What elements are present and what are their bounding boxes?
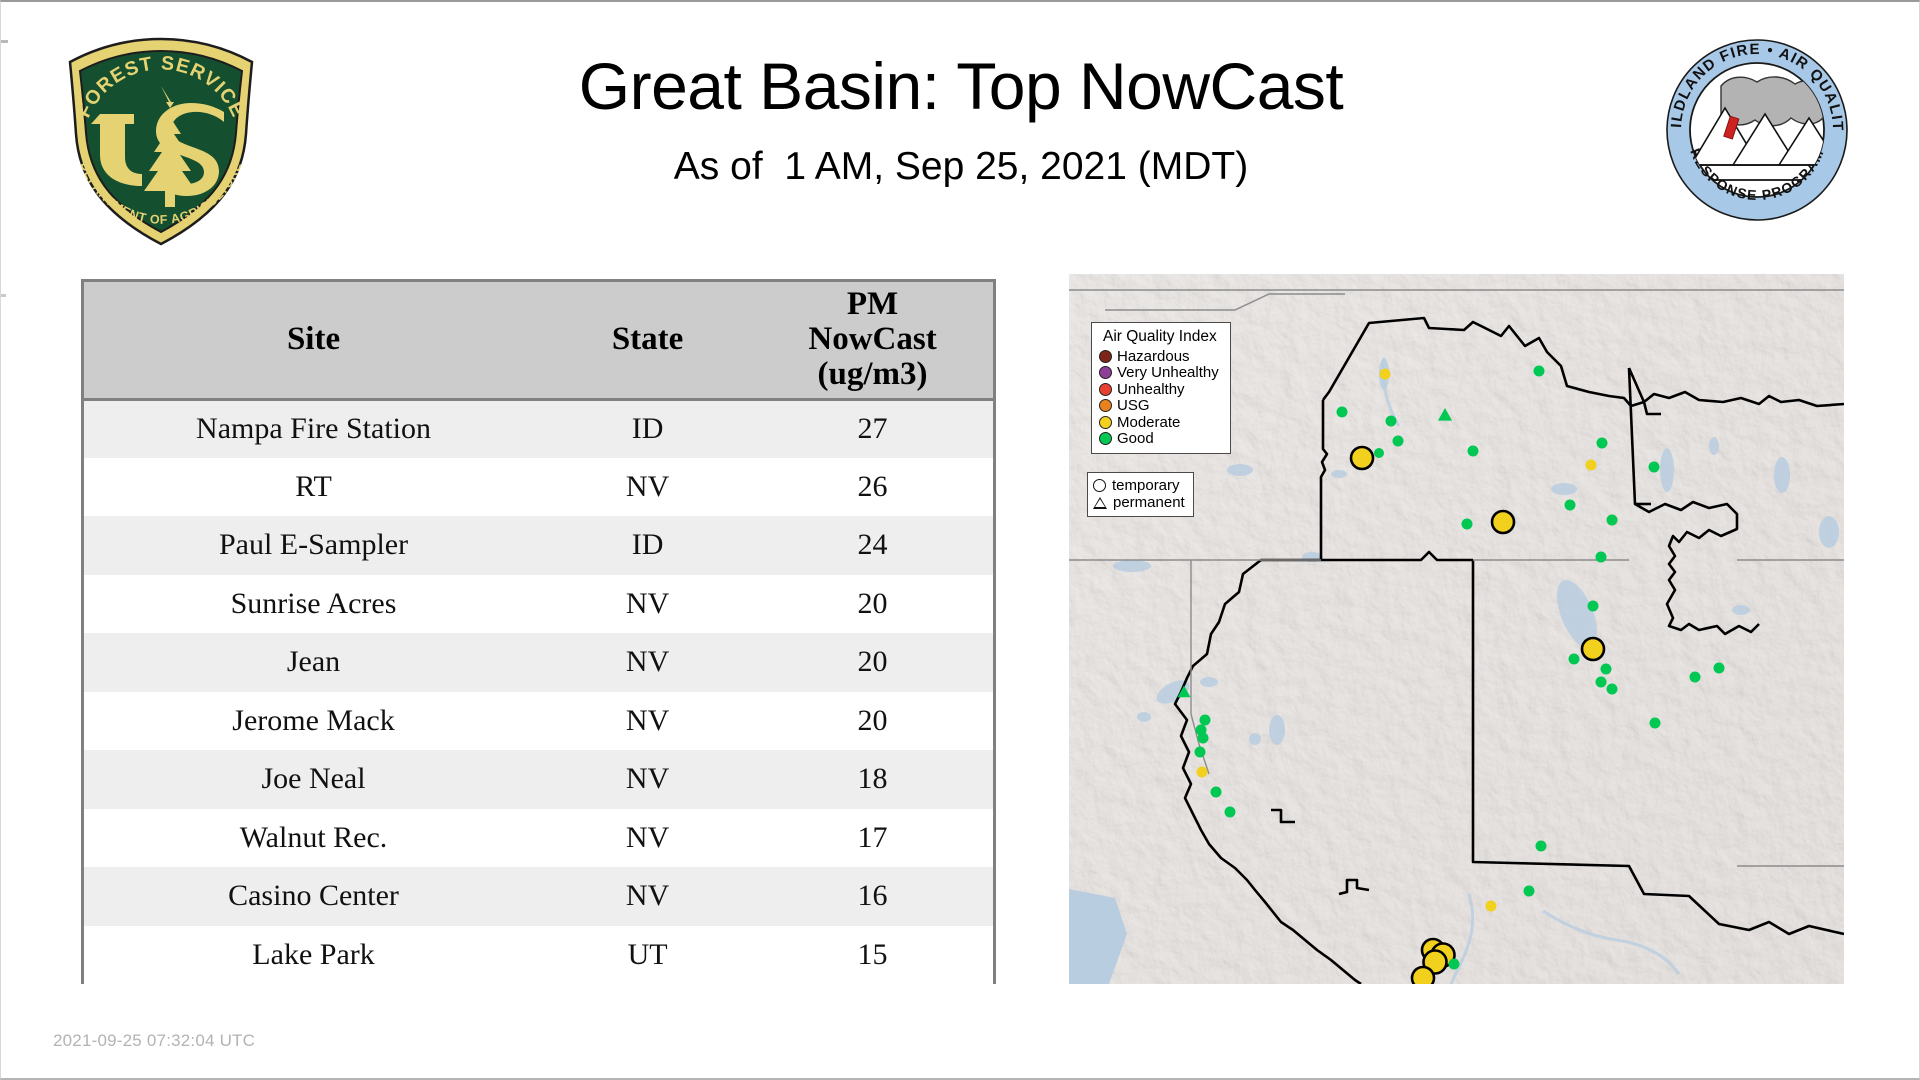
- aqi-swatch-icon: [1099, 383, 1112, 396]
- monitor-marker-temporary[interactable]: [1449, 959, 1460, 970]
- monitor-marker-temporary[interactable]: [1596, 552, 1607, 563]
- monitor-marker-highlight[interactable]: [1492, 511, 1514, 533]
- aqi-swatch-icon: [1099, 366, 1112, 379]
- monitor-marker-temporary[interactable]: [1607, 515, 1618, 526]
- cell-site: Walnut Rec.: [84, 809, 543, 868]
- nowcast-table-container: Site State PM NowCast (ug/m3) Nampa Fire…: [81, 279, 996, 984]
- cell-state: NV: [543, 458, 752, 517]
- cell-value: 18: [752, 750, 993, 809]
- monitor-marker-temporary[interactable]: [1225, 807, 1236, 818]
- cell-state: NV: [543, 867, 752, 926]
- monitor-marker-temporary[interactable]: [1596, 677, 1607, 688]
- monitor-marker-temporary[interactable]: [1690, 672, 1701, 683]
- table-header-row: Site State PM NowCast (ug/m3): [84, 282, 993, 399]
- cell-value: 26: [752, 458, 993, 517]
- cell-value: 16: [752, 867, 993, 926]
- monitor-marker-highlight[interactable]: [1351, 447, 1373, 469]
- monitor-marker-temporary[interactable]: [1536, 841, 1547, 852]
- monitor-marker-highlight[interactable]: [1582, 638, 1604, 660]
- aqi-legend-label: Hazardous: [1117, 349, 1190, 364]
- left-edge-tick-secondary: [1, 294, 6, 297]
- monitor-marker-temporary[interactable]: [1197, 767, 1208, 778]
- air-quality-map[interactable]: Air Quality Index HazardousVery Unhealth…: [1069, 274, 1844, 984]
- monitor-marker-temporary[interactable]: [1650, 718, 1661, 729]
- cell-site: Jerome Mack: [84, 692, 543, 751]
- monitor-marker-temporary[interactable]: [1393, 436, 1404, 447]
- aqi-legend-row: Very Unhealthy: [1099, 365, 1221, 382]
- monitor-marker-temporary[interactable]: [1211, 787, 1222, 798]
- monitor-marker-temporary[interactable]: [1486, 901, 1497, 912]
- table-row: Sunrise AcresNV20: [84, 575, 993, 634]
- permanent-monitor-icon: [1093, 497, 1107, 509]
- cell-value: 17: [752, 809, 993, 868]
- cell-value: 15: [752, 926, 993, 985]
- aqi-legend-items: HazardousVery UnhealthyUnhealthyUSGModer…: [1099, 348, 1221, 447]
- monitor-marker-temporary[interactable]: [1468, 446, 1479, 457]
- monitor-marker-temporary[interactable]: [1337, 407, 1348, 418]
- aqi-legend-row: Unhealthy: [1099, 381, 1221, 398]
- aqi-swatch-icon: [1099, 399, 1112, 412]
- table-row: JeanNV20: [84, 633, 993, 692]
- table-row: Walnut Rec.NV17: [84, 809, 993, 868]
- legend-row-temporary: temporary: [1093, 477, 1185, 494]
- nowcast-table: Site State PM NowCast (ug/m3) Nampa Fire…: [84, 282, 993, 984]
- slide-page: FOREST SERVICE DEPARTMENT OF AGRICULTURE…: [0, 0, 1920, 1080]
- monitor-marker-temporary[interactable]: [1714, 663, 1725, 674]
- monitor-marker-temporary[interactable]: [1649, 462, 1660, 473]
- monitor-marker-highlight[interactable]: [1412, 967, 1434, 984]
- forest-service-shield-logo: FOREST SERVICE DEPARTMENT OF AGRICULTURE: [56, 34, 266, 249]
- aqi-legend-label: Unhealthy: [1117, 382, 1185, 397]
- cell-site: RT: [84, 458, 543, 517]
- cell-state: ID: [543, 516, 752, 575]
- aqi-legend-label: USG: [1117, 398, 1150, 413]
- cell-state: NV: [543, 750, 752, 809]
- aqi-legend-label: Good: [1117, 431, 1154, 446]
- aqi-legend-row: USG: [1099, 398, 1221, 415]
- table-row: Joe NealNV18: [84, 750, 993, 809]
- cell-value: 20: [752, 692, 993, 751]
- permanent-label: permanent: [1113, 495, 1185, 510]
- aqi-legend-row: Moderate: [1099, 414, 1221, 431]
- monitor-marker-temporary[interactable]: [1195, 747, 1206, 758]
- monitor-marker-temporary[interactable]: [1534, 366, 1545, 377]
- monitor-marker-temporary[interactable]: [1565, 500, 1576, 511]
- aqi-legend-label: Moderate: [1117, 415, 1180, 430]
- title-block: Great Basin: Top NowCast As of 1 AM, Sep…: [301, 52, 1621, 189]
- wfaq-program-logo: WILDLAND FIRE • AIR QUALITY RESPONSE PRO…: [1661, 34, 1853, 226]
- page-subtitle: As of 1 AM, Sep 25, 2021 (MDT): [301, 145, 1621, 189]
- table-body: Nampa Fire StationID27RTNV26Paul E-Sampl…: [84, 399, 993, 984]
- cell-state: NV: [543, 633, 752, 692]
- temporary-monitor-icon: [1093, 479, 1106, 492]
- cell-site: Casino Center: [84, 867, 543, 926]
- cell-value: 24: [752, 516, 993, 575]
- cell-value: 20: [752, 633, 993, 692]
- table-row: RTNV26: [84, 458, 993, 517]
- cell-state: NV: [543, 809, 752, 868]
- table-row: Nampa Fire StationID27: [84, 399, 993, 458]
- cell-value: 20: [752, 575, 993, 634]
- cell-state: NV: [543, 575, 752, 634]
- monitor-marker-temporary[interactable]: [1586, 460, 1597, 471]
- cell-site: Paul E-Sampler: [84, 516, 543, 575]
- monitor-marker-temporary[interactable]: [1374, 448, 1384, 458]
- monitor-marker-temporary[interactable]: [1601, 664, 1612, 675]
- cell-site: Nampa Fire Station: [84, 399, 543, 458]
- cell-value: 27: [752, 399, 993, 458]
- monitor-marker-temporary[interactable]: [1386, 416, 1397, 427]
- monitor-marker-temporary[interactable]: [1200, 715, 1211, 726]
- table-row: Paul E-SamplerID24: [84, 516, 993, 575]
- column-header-pm-nowcast: PM NowCast (ug/m3): [752, 282, 993, 399]
- monitor-marker-temporary[interactable]: [1380, 369, 1391, 380]
- aqi-swatch-icon: [1099, 416, 1112, 429]
- cell-site: Joe Neal: [84, 750, 543, 809]
- aqi-legend-label: Very Unhealthy: [1117, 365, 1219, 380]
- aqi-legend: Air Quality Index HazardousVery Unhealth…: [1091, 322, 1231, 454]
- page-header: FOREST SERVICE DEPARTMENT OF AGRICULTURE…: [1, 2, 1920, 264]
- table-row: Casino CenterNV16: [84, 867, 993, 926]
- monitor-type-legend: temporary permanent: [1087, 472, 1194, 517]
- cell-site: Sunrise Acres: [84, 575, 543, 634]
- monitor-marker-temporary[interactable]: [1588, 601, 1599, 612]
- cell-state: UT: [543, 926, 752, 985]
- aqi-legend-title: Air Quality Index: [1099, 328, 1221, 346]
- aqi-legend-row: Good: [1099, 431, 1221, 448]
- aqi-legend-row: Hazardous: [1099, 348, 1221, 365]
- cell-state: NV: [543, 692, 752, 751]
- cell-site: Jean: [84, 633, 543, 692]
- temporary-label: temporary: [1112, 478, 1180, 493]
- monitor-marker-temporary[interactable]: [1607, 684, 1618, 695]
- aqi-swatch-icon: [1099, 350, 1112, 363]
- cell-state: ID: [543, 399, 752, 458]
- monitor-marker-temporary[interactable]: [1569, 654, 1580, 665]
- cell-site: Lake Park: [84, 926, 543, 985]
- monitor-marker-temporary[interactable]: [1524, 886, 1535, 897]
- column-header-state: State: [543, 282, 752, 399]
- monitor-marker-temporary[interactable]: [1462, 519, 1473, 530]
- page-title: Great Basin: Top NowCast: [301, 52, 1621, 121]
- aqi-swatch-icon: [1099, 432, 1112, 445]
- generation-timestamp: 2021-09-25 07:32:04 UTC: [53, 1031, 255, 1051]
- monitor-marker-temporary[interactable]: [1198, 733, 1209, 744]
- monitor-marker-temporary[interactable]: [1597, 438, 1608, 449]
- column-header-site: Site: [84, 282, 543, 399]
- table-row: Lake ParkUT15: [84, 926, 993, 985]
- legend-row-permanent: permanent: [1093, 494, 1185, 511]
- table-row: Jerome MackNV20: [84, 692, 993, 751]
